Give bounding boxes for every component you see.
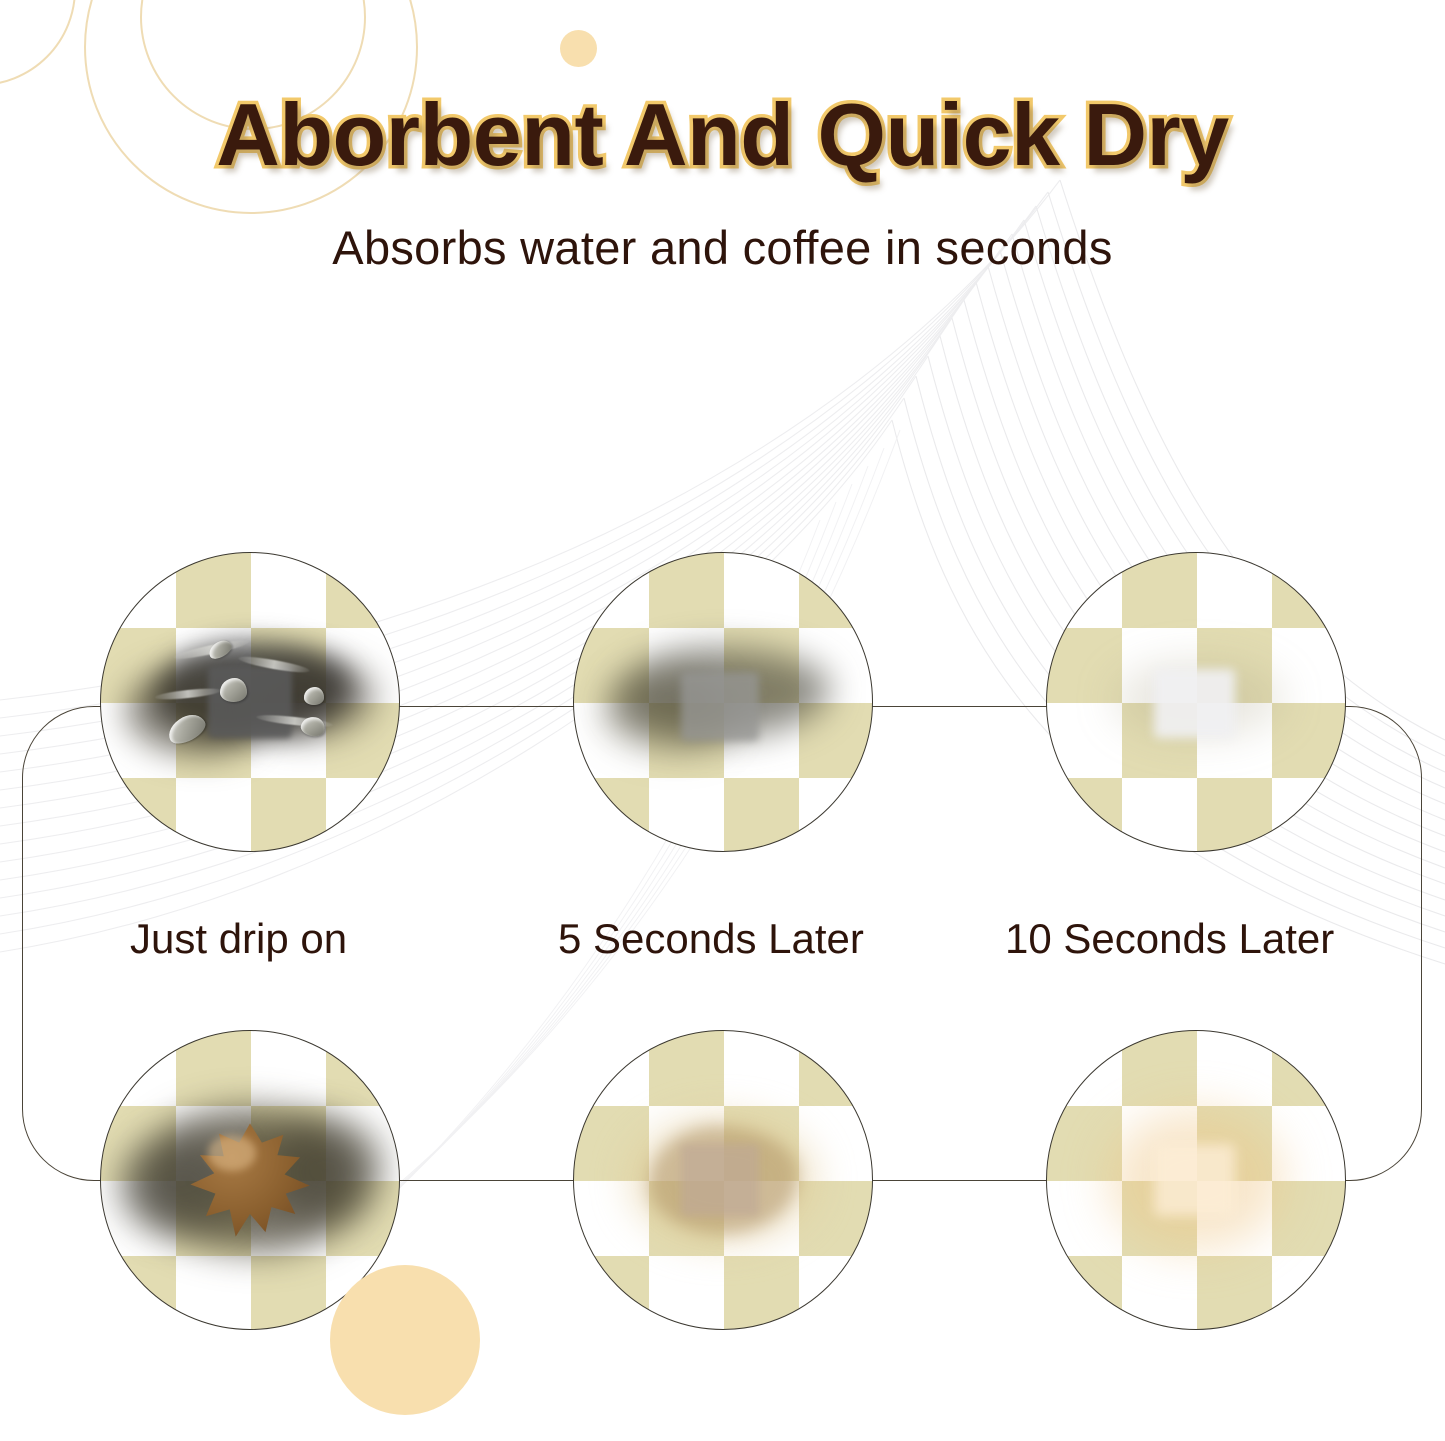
coffee-stain-medium	[574, 1031, 872, 1329]
stage-label-1: Just drip on	[130, 915, 347, 963]
demo-grid: Just drip on 5 Seconds Later 10 Seconds …	[0, 0, 1445, 1441]
coffee-frame-2	[573, 1030, 873, 1330]
coffee-stain-faint	[1047, 1031, 1345, 1329]
water-frame-2	[573, 552, 873, 852]
promo-infographic: Aborbent And Quick Dry Absorbs water and…	[0, 0, 1445, 1441]
swatch-circle	[1046, 1030, 1346, 1330]
water-droplet-icon	[304, 687, 325, 705]
decorative-dot-bottom-icon	[330, 1265, 480, 1415]
water-droplet-icon	[220, 678, 247, 702]
swatch-circle	[100, 552, 400, 852]
water-stain-medium	[574, 553, 872, 851]
swatch-circle	[573, 552, 873, 852]
water-stain-strong	[101, 553, 399, 851]
stage-label-2: 5 Seconds Later	[558, 915, 864, 963]
water-frame-1	[100, 552, 400, 852]
water-frame-3	[1046, 552, 1346, 852]
coffee-frame-3	[1046, 1030, 1346, 1330]
coffee-splat-highlight	[208, 1135, 256, 1171]
swatch-circle	[1046, 552, 1346, 852]
stage-label-3: 10 Seconds Later	[1005, 915, 1334, 963]
water-stain-faint	[1047, 553, 1345, 851]
swatch-circle	[573, 1030, 873, 1330]
